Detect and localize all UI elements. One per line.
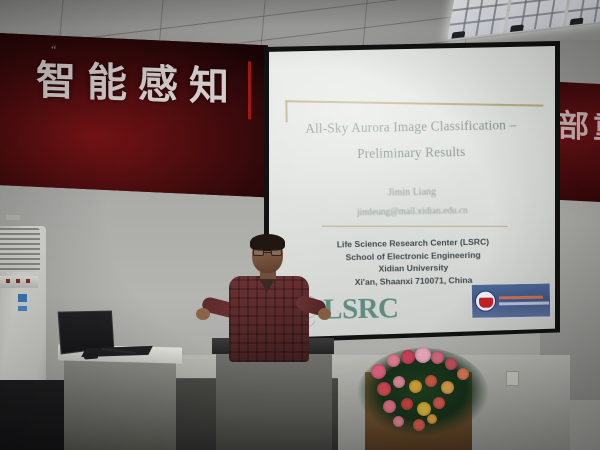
banner-accent-bar: [248, 61, 251, 119]
photo-scene: “ 智能感知 部重 All-Sky Aurora Image Classific…: [0, 0, 600, 450]
flower-bloom: [425, 375, 437, 387]
flower-bloom: [393, 416, 404, 427]
flower-bloom: [431, 351, 444, 364]
slide-decorative-rule: [285, 100, 543, 106]
university-logo: [471, 282, 552, 318]
presenter-right-hand: [318, 308, 331, 320]
flower-bloom: [427, 414, 437, 424]
slide-title-line2: Preliminary Results: [269, 137, 554, 168]
banner-right-chinese-text: 部重: [558, 100, 600, 149]
flower-bloom: [401, 398, 413, 410]
slide-title-line1: All-Sky Aurora Image Classification –: [269, 111, 554, 142]
ac-indicator-led: [16, 279, 20, 283]
floral-arrangement: [357, 334, 489, 442]
ac-indicator-led: [26, 279, 30, 283]
laptop-desk-body: [64, 360, 176, 450]
ac-label-sticker: [18, 294, 27, 302]
flower-bloom: [413, 419, 425, 431]
presenter-left-hand: [196, 308, 210, 320]
red-banner-right-section: 部重: [556, 82, 600, 203]
flower-bloom: [415, 347, 431, 363]
banner-chinese-text: 智能感知: [36, 48, 240, 113]
ceiling-light-fixture: [447, 0, 600, 39]
slide-author: Jimin Liang: [269, 184, 555, 200]
flower-bloom: [377, 382, 391, 396]
slide-email: jimleung@mail.xidian.edu.cn: [269, 204, 555, 219]
speaker-table-body: [216, 352, 332, 450]
flower-bloom: [383, 400, 396, 413]
flower-bloom: [457, 368, 469, 380]
flower-bloom: [371, 364, 386, 379]
flower-bloom: [441, 381, 454, 394]
slide-title: All-Sky Aurora Image Classification – Pr…: [269, 111, 554, 168]
flower-bloom: [445, 358, 457, 370]
ac-brand-logo: [6, 215, 20, 220]
ac-upper-grille: [0, 228, 40, 272]
presenter: [196, 236, 336, 366]
flower-bloom: [401, 350, 415, 364]
flower-bloom: [433, 397, 445, 409]
flower-bloom: [387, 354, 400, 367]
slide-decorative-rule-mid: [322, 226, 508, 227]
desk-accessory: [84, 353, 98, 360]
ac-label-sticker: [18, 306, 27, 311]
flower-bloom: [393, 376, 405, 388]
university-emblem-icon: [475, 290, 496, 311]
university-logo-text: [499, 295, 549, 305]
flower-bloom: [409, 380, 422, 393]
wall-outlet: [506, 371, 519, 386]
red-banner: “ 智能感知: [0, 33, 268, 197]
eyeglasses-icon: [253, 249, 282, 256]
ac-indicator-led: [6, 279, 10, 283]
